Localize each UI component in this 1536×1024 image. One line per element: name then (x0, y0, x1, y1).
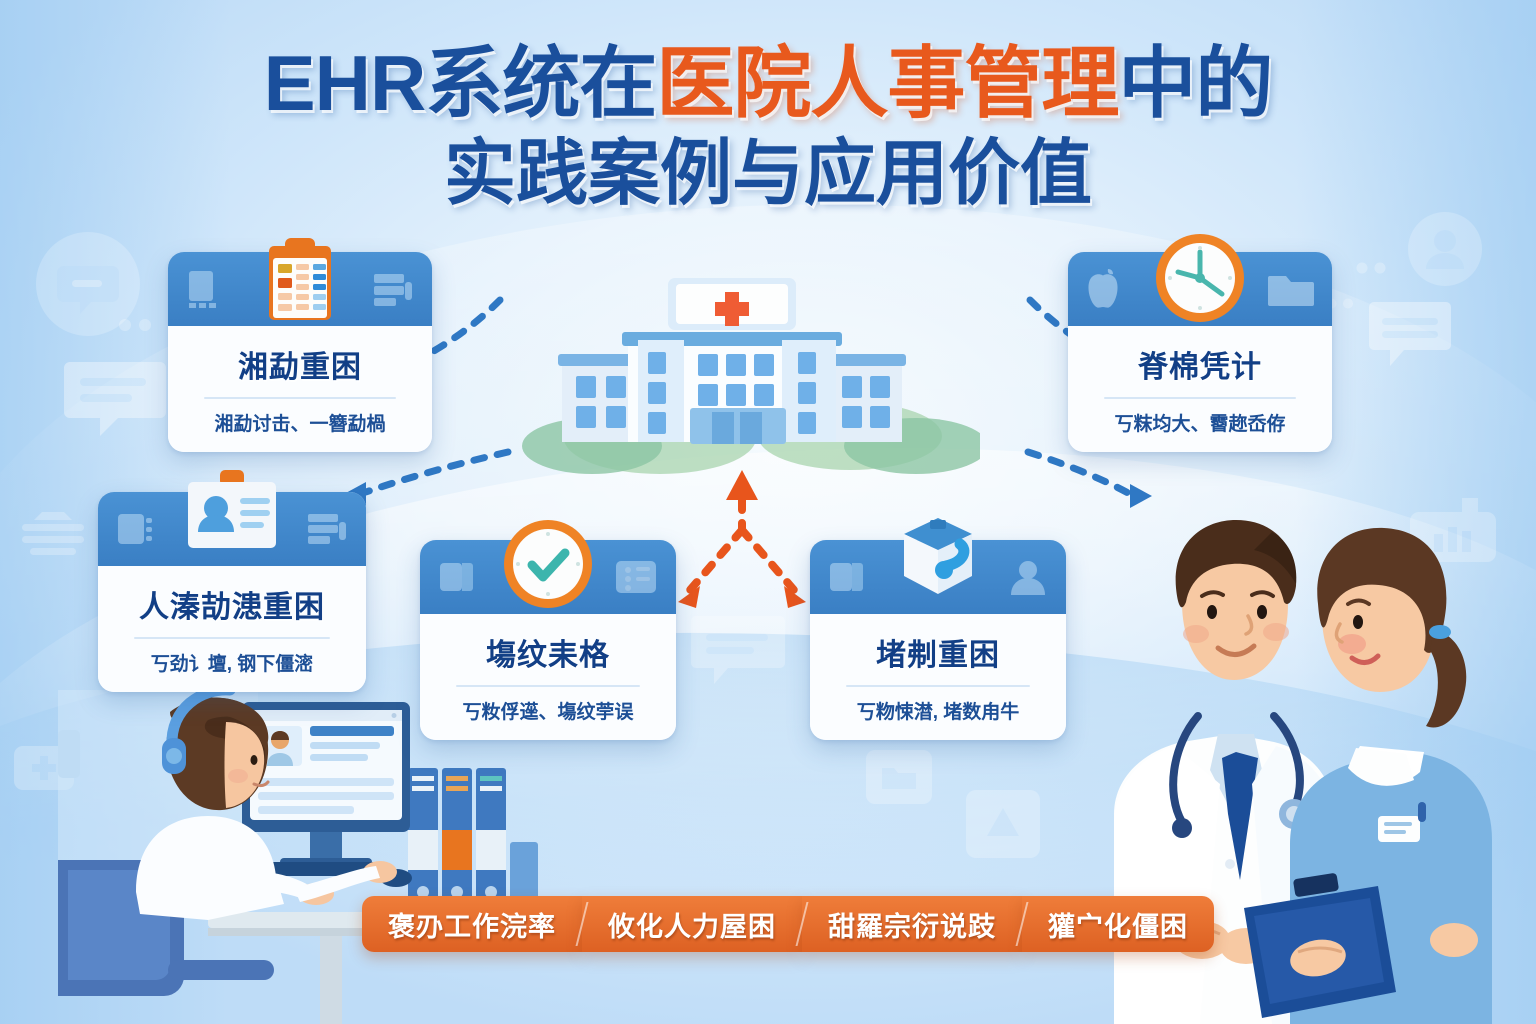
benefit-pill-1-label: 褒刅工作浣率 (388, 905, 556, 944)
files-icon (372, 270, 414, 308)
title-part-3: 中的 (1118, 39, 1272, 127)
title-part-2: 医院人事管理 (656, 39, 1118, 127)
book-icon (828, 558, 866, 596)
card-bcl-body: 塲纹耒格 丂籹俘遳、塲纹荢误 (420, 614, 676, 740)
document-icon (186, 269, 222, 309)
office-binders (408, 768, 538, 916)
poster-canvas: EHR系统在医院人事管理中的 实践案例与应用价值 (0, 0, 1536, 1024)
card-mid-left-header (98, 492, 366, 566)
chat-bubble-icon (690, 614, 786, 690)
person-icon (1008, 558, 1048, 596)
chat-bubble-icon (62, 358, 168, 440)
dots-icon (118, 318, 158, 332)
arrow-branch-left (690, 530, 742, 590)
card-top-left-header (168, 252, 432, 326)
benefit-pill-4[interactable]: 獾宀化僵困 (1022, 896, 1214, 952)
card-mid-left-subtitle: 丂劲讠壇, 钢下僵滵 (108, 649, 356, 676)
card-bcl-title: 塲纹耒格 (430, 630, 666, 674)
title-line-2: 实践案例与应用价值 (0, 138, 1536, 210)
card-bcr-subtitle: 丂粅悚澘, 堵数甪牛 (820, 697, 1056, 724)
clock-icon (1154, 232, 1246, 324)
benefit-pill-4-label: 獾宀化僵困 (1048, 905, 1188, 944)
card-top-left-subtitle: 湘勐讨击、一簪勐楇 (178, 409, 422, 436)
monitor-with-employee-record (242, 702, 410, 870)
benefit-pill-3-label: 甜羅宗衍说跂 (828, 905, 996, 944)
arrow-hospital-to-mid-left-line (366, 452, 508, 492)
card-mid-left[interactable]: 人溱劼漶重困 丂劲讠壇, 钢下僵滵 (98, 492, 366, 692)
document-icon (116, 510, 154, 548)
card-list-icon (614, 559, 658, 595)
card-top-left-body: 湘勐重困 湘勐讨击、一簪勐楇 (168, 326, 432, 452)
card-bcr-header (810, 540, 1066, 614)
files-icon (306, 510, 348, 548)
card-top-right-body: 脊棉凭计 丂粖均大、霫趂岙侟 (1068, 326, 1332, 452)
card-top-right-subtitle: 丂粖均大、霫趂岙侟 (1078, 409, 1322, 436)
card-top-right[interactable]: 脊棉凭计 丂粖均大、霫趂岙侟 (1068, 252, 1332, 452)
card-top-left[interactable]: 湘勐重困 湘勐讨击、一簪勐楇 (168, 252, 432, 452)
ponytail (1426, 630, 1466, 728)
card-top-left-title: 湘勐重困 (178, 342, 422, 386)
title-part-1: EHR系统在 (264, 39, 657, 127)
arrow-hospital-to-top-left-line (432, 300, 500, 352)
card-divider (204, 397, 396, 399)
benefit-pill-1[interactable]: 褒刅工作浣率 (362, 896, 582, 952)
card-bottom-center-right[interactable]: 堵刜重困 丂粅悚澘, 堵数甪牛 (810, 540, 1066, 740)
title-line-2-text: 实践案例与应用价值 (444, 134, 1092, 214)
benefit-pill-2[interactable]: 攸化人力屋困 (582, 896, 802, 952)
box-search-icon (888, 514, 988, 610)
book-icon (438, 558, 476, 596)
name-badge (1378, 816, 1420, 842)
apple-icon (1086, 267, 1126, 311)
card-top-right-title: 脊棉凭计 (1078, 342, 1322, 386)
card-divider (456, 685, 640, 687)
id-badge-icon (184, 470, 280, 556)
card-bcr-title: 堵刜重困 (820, 630, 1056, 674)
avatar-circle-icon (1408, 212, 1482, 286)
card-bottom-center-left[interactable]: 塲纹耒格 丂籹俘遳、塲纹荢误 (420, 540, 676, 740)
card-mid-left-title: 人溱劼漶重困 (108, 582, 356, 626)
card-bcr-body: 堵刜重困 丂粅悚澘, 堵数甪牛 (810, 614, 1066, 740)
clipboard-icon (261, 236, 339, 324)
hospital-building (520, 256, 980, 476)
card-bcl-header (420, 540, 676, 614)
card-divider (1104, 397, 1296, 399)
title-line-1: EHR系统在医院人事管理中的 (0, 44, 1536, 122)
card-mid-left-body: 人溱劼漶重困 丂劲讠壇, 钢下僵滵 (98, 566, 366, 692)
arrow-branch-right (742, 530, 794, 590)
arrow-head-branch-left (678, 586, 700, 608)
benefit-pill-bar: 褒刅工作浣率 攸化人力屋困 甜羅宗衍说跂 獾宀化僵困 (362, 896, 1214, 952)
folder-icon (866, 750, 932, 804)
chat-bubble-icon (36, 232, 140, 336)
card-bcl-subtitle: 丂籹俘遳、塲纹荢误 (430, 697, 666, 724)
card-divider (846, 685, 1030, 687)
card-top-right-header (1068, 252, 1332, 326)
card-divider (134, 637, 330, 639)
clock-check-icon (502, 518, 594, 610)
poster-title: EHR系统在医院人事管理中的 实践案例与应用价值 (0, 44, 1536, 210)
arrow-head-branch-right (784, 586, 806, 608)
folder-icon (1268, 270, 1314, 308)
chat-bubble-icon (1368, 300, 1452, 372)
benefit-pill-2-label: 攸化人力屋困 (608, 905, 776, 944)
benefit-pill-3[interactable]: 甜羅宗衍说跂 (802, 896, 1022, 952)
document-lines-icon (22, 512, 84, 560)
dots-icon (1356, 262, 1390, 274)
